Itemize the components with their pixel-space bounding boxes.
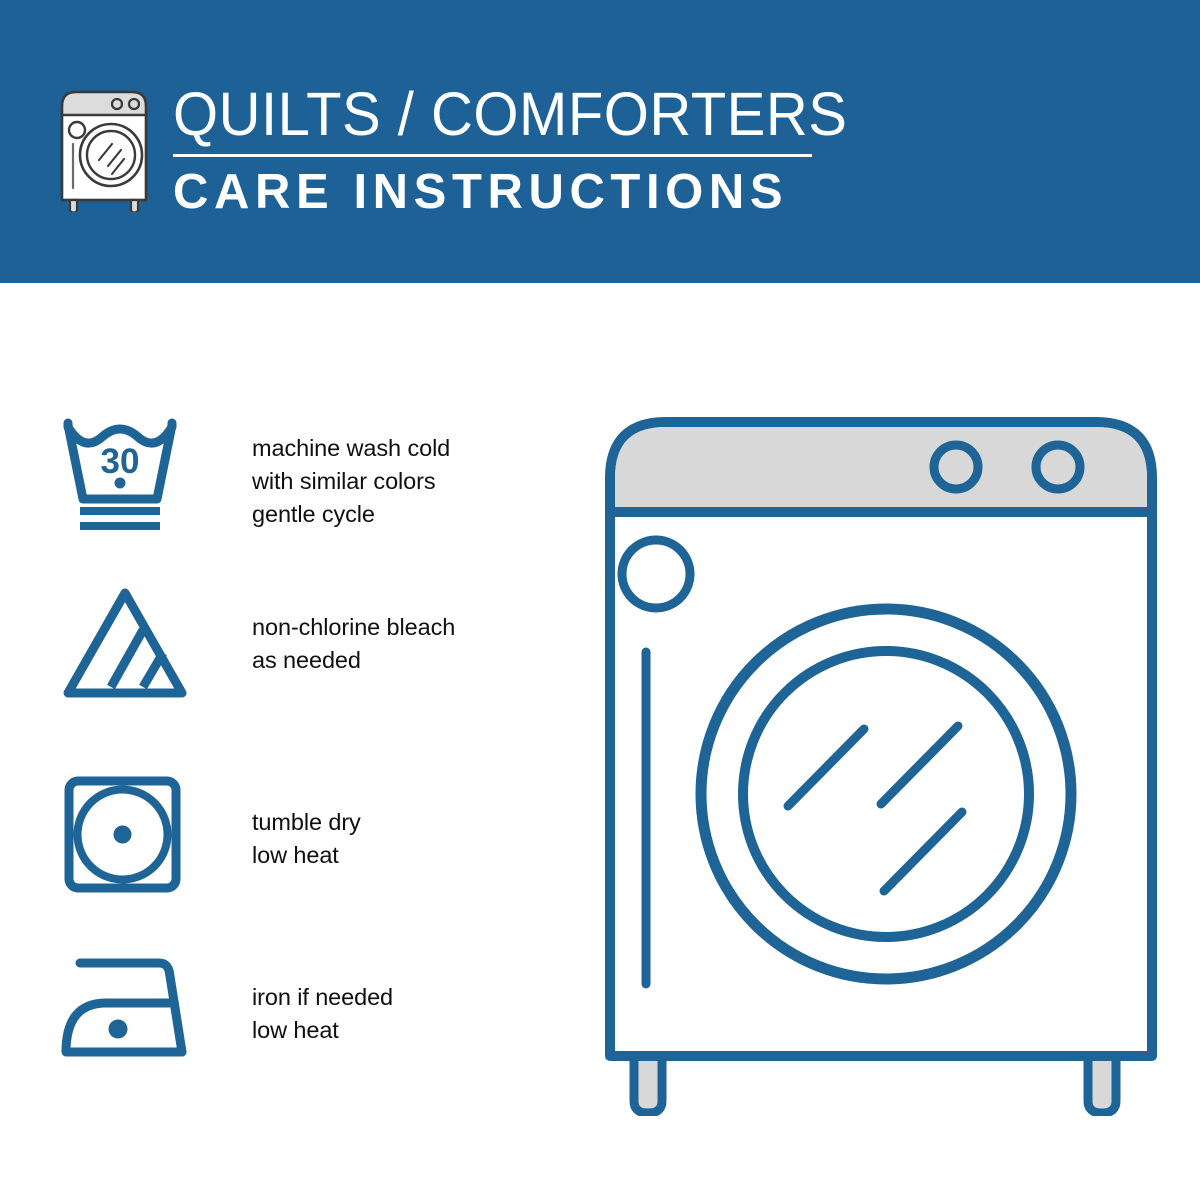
care-text-line: as needed — [252, 644, 542, 677]
machine-leg-left — [634, 1054, 662, 1113]
care-row-bleach: non-chlorine bleach as needed — [0, 583, 560, 723]
bleach-triangle-stripes-icon — [58, 583, 193, 708]
care-text-tumble-dry: tumble dry low heat — [252, 806, 542, 872]
care-text-line: with similar colors — [252, 465, 542, 498]
control-knob-right — [1036, 445, 1080, 489]
care-row-machine-wash: 30 machine wash cold with similar colors… — [0, 411, 560, 551]
care-instruction-list: 30 machine wash cold with similar colors… — [0, 283, 560, 1200]
front-load-washing-machine-illustration — [596, 404, 1166, 1116]
page-title: QUILTS / COMFORTERS — [173, 82, 833, 148]
care-instructions-page: QUILTS / COMFORTERS CARE INSTRUCTIONS 30 — [0, 0, 1200, 1200]
wash-tub-30-gentle-icon: 30 — [58, 411, 193, 536]
washing-machine-icon — [50, 82, 158, 212]
care-text-machine-wash: machine wash cold with similar colors ge… — [252, 432, 542, 531]
care-text-line: low heat — [252, 839, 542, 872]
care-text-line: low heat — [252, 1014, 542, 1047]
care-row-tumble-dry: tumble dry low heat — [0, 773, 560, 913]
tumble-dry-low-icon — [58, 773, 193, 898]
title-divider — [173, 154, 812, 157]
care-text-line: gentle cycle — [252, 498, 542, 531]
page-header: QUILTS / COMFORTERS CARE INSTRUCTIONS — [0, 0, 1200, 283]
care-text-line: iron if needed — [252, 981, 542, 1014]
care-text-line: machine wash cold — [252, 432, 542, 465]
care-row-iron: iron if needed low heat — [0, 948, 560, 1088]
iron-low-heat-icon — [58, 948, 193, 1073]
care-text-line: non-chlorine bleach — [252, 611, 542, 644]
header-title-block: QUILTS / COMFORTERS CARE INSTRUCTIONS — [173, 82, 833, 219]
machine-leg-right — [1088, 1054, 1116, 1113]
wash-temperature-value: 30 — [101, 442, 140, 481]
care-text-iron: iron if needed low heat — [252, 981, 542, 1047]
page-subtitle: CARE INSTRUCTIONS — [173, 166, 833, 219]
control-knob-left — [934, 445, 978, 489]
care-text-line: tumble dry — [252, 806, 542, 839]
indicator-light — [622, 540, 690, 608]
care-text-bleach: non-chlorine bleach as needed — [252, 611, 542, 677]
